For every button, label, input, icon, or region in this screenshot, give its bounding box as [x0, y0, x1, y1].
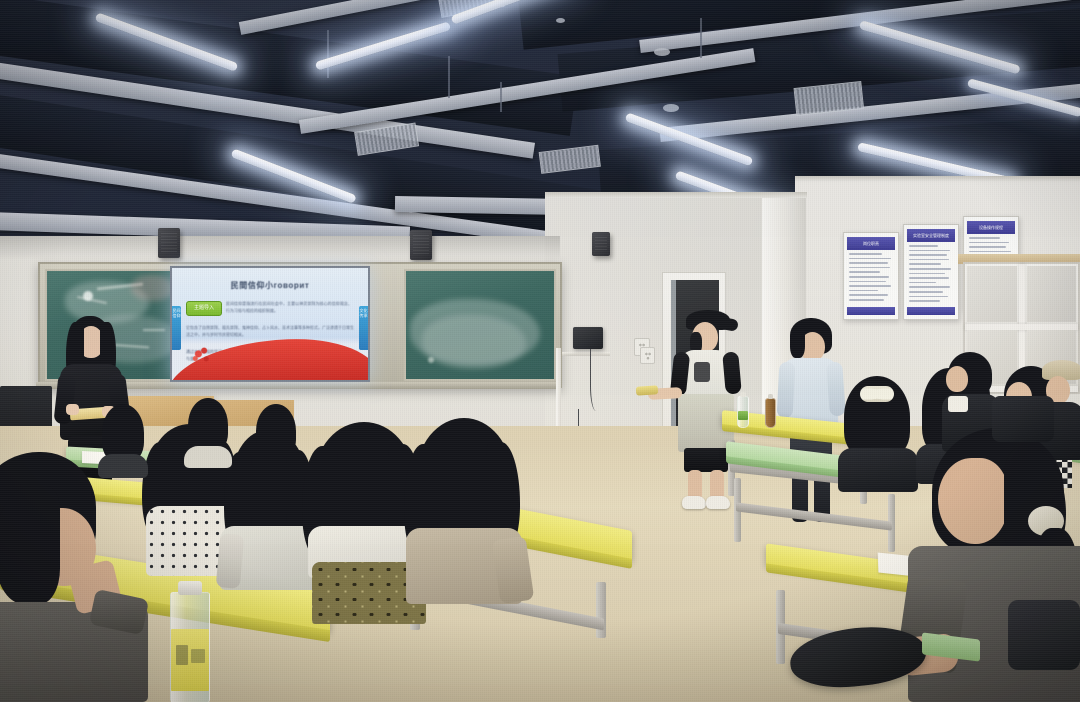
classroom-photo: 民間信仰小говорит 主题导入 民间信仰是指流行在民间社会中，主要以神灵崇拜…	[0, 0, 1080, 702]
wall-speaker-far-icon	[592, 232, 610, 256]
light-switch-panel[interactable]	[640, 347, 655, 364]
seated-student-tan	[400, 418, 528, 608]
hanging-cable	[590, 349, 605, 411]
yellow-held-object	[636, 385, 659, 396]
seated-student-foreground-left	[0, 452, 146, 702]
slide-title: 民間信仰小говорит	[172, 280, 368, 291]
chalkboard-right	[404, 269, 556, 381]
poster-center-header: 实验室安全管理制度	[907, 229, 955, 242]
bottle-cap	[178, 581, 202, 595]
wall-speaker-left-icon	[158, 228, 180, 258]
smoke-detector-icon	[556, 18, 565, 23]
slide-paragraph-2: 它包含了自然崇拜、祖先崇拜、鬼神信仰、占卜风水、巫术法事等多种形式，广泛渗透于日…	[186, 324, 354, 338]
projector-screen: 民間信仰小говорит 主题导入 民间信仰是指流行在民间社会中，主要以神灵崇拜…	[170, 266, 370, 382]
bottle-green-label	[737, 396, 749, 428]
seated-student-back-3	[250, 404, 302, 470]
water-bottle-front	[170, 592, 210, 702]
bag-under-desk	[1008, 600, 1080, 670]
slide-badge: 主题导入	[186, 301, 222, 316]
slide-paragraph-1: 民间信仰是指流行在民间社会中，主要以神灵崇拜为核心的信仰观念、行为习俗与相应的组…	[226, 300, 352, 314]
bottle-brown	[765, 398, 776, 428]
slide-tab-right: 文化传承	[359, 306, 368, 350]
hair-bow	[860, 386, 894, 402]
poster-left: 岗位职责	[843, 232, 899, 320]
wall-speaker-right-icon	[410, 230, 432, 260]
smoke-detector-icon	[654, 48, 670, 56]
poster-right-header: 设备操作规程	[967, 221, 1015, 234]
slide-flower-graphic	[188, 344, 214, 366]
bag-under-shelf	[992, 396, 1054, 442]
seated-student-back-2	[182, 398, 234, 464]
slide-tab-left: 民间信仰	[172, 306, 181, 350]
sneaker	[682, 496, 706, 509]
ceiling-vent	[539, 145, 601, 174]
smoke-detector-icon	[663, 104, 679, 112]
poster-center: 实验室安全管理制度	[903, 224, 959, 320]
poster-left-header: 岗位职责	[847, 237, 895, 250]
av-unit	[573, 327, 603, 349]
seated-student-back-1	[96, 404, 150, 474]
